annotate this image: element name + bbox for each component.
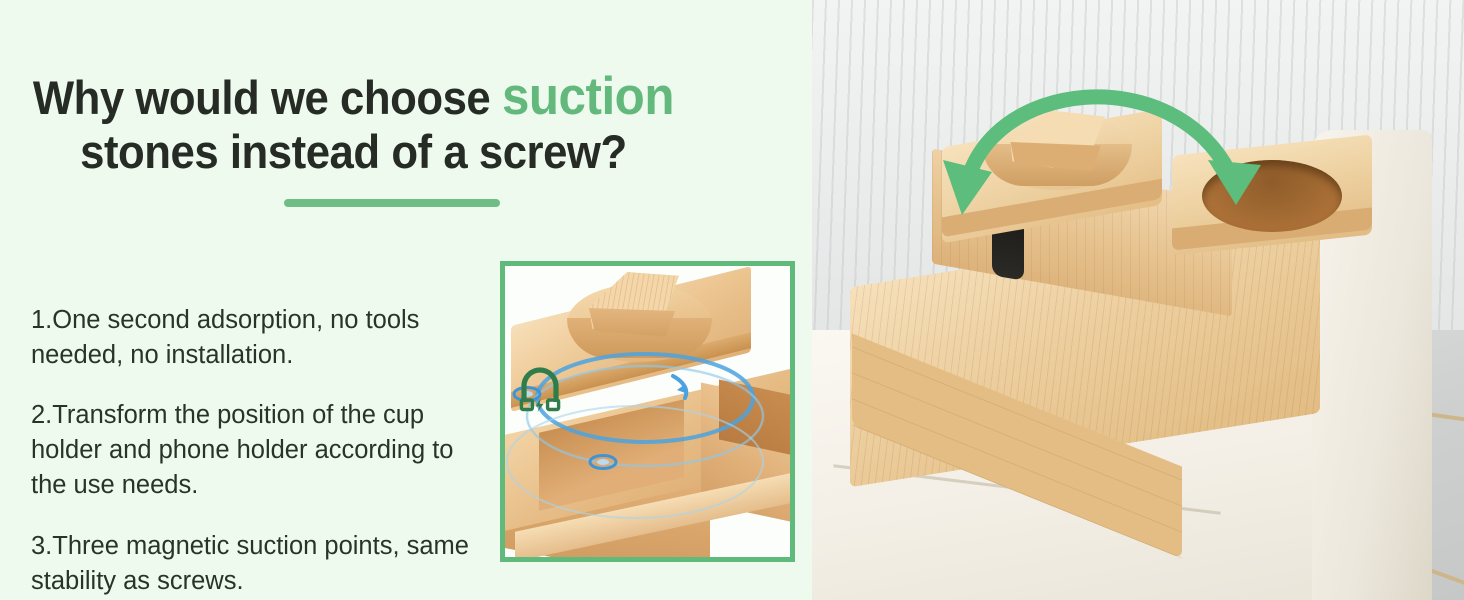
headline-line-1: Why would we choose suction (0, 70, 707, 125)
feature-list: 1.One second adsorption, no tools needed… (31, 277, 486, 599)
product-infographic-banner: Why would we choose suction stones inste… (0, 0, 1464, 600)
inset-stage (505, 266, 790, 557)
list-item: 3.Three magnetic suction points, same st… (31, 529, 486, 599)
headline-accent-word: suction (502, 67, 674, 126)
swap-positions-arrow (812, 0, 1464, 600)
left-content-panel: Why would we choose suction stones inste… (0, 0, 812, 600)
list-item: 2.Transform the position of the cup hold… (31, 398, 486, 503)
product-photo (812, 0, 1464, 600)
page-title: Why would we choose suction stones inste… (0, 70, 707, 179)
magnet-icon (514, 362, 566, 414)
headline-line-2: stones instead of a screw? (0, 125, 707, 179)
list-item: 1.One second adsorption, no tools needed… (31, 303, 486, 373)
headline-line-1-prefix: Why would we choose (33, 71, 502, 124)
inset-magnet-illustration (500, 261, 795, 562)
title-underline-rule (284, 199, 500, 207)
